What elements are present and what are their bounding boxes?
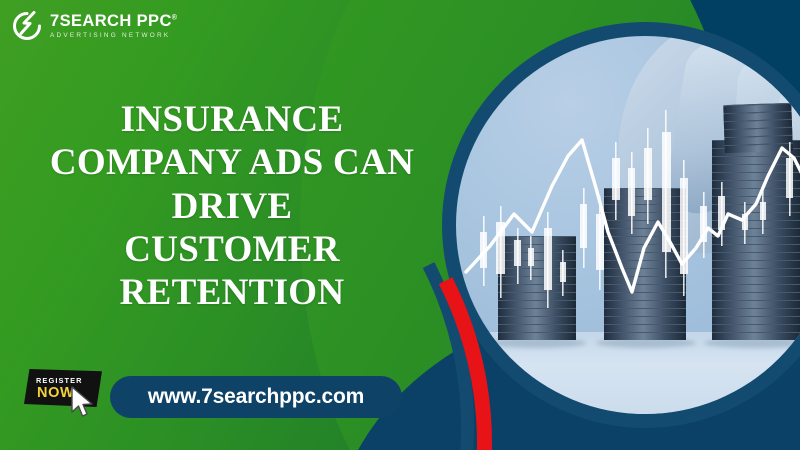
badge-label-register: REGISTER <box>36 376 83 385</box>
brand-name-text: 7SEARCH PPC <box>50 12 172 30</box>
registered-mark: ® <box>172 14 178 21</box>
headline: INSURANCE COMPANY ADS CAN DRIVE CUSTOMER… <box>22 98 442 314</box>
refresh-swoosh-icon <box>12 11 42 41</box>
headline-line-2: COMPANY ADS CAN <box>22 141 442 184</box>
headline-line-5: RETENTION <box>22 271 442 314</box>
headline-line-3: DRIVE <box>22 185 442 228</box>
register-now-badge[interactable]: REGISTER NOW <box>24 369 112 417</box>
brand-logo[interactable]: 7SEARCH PPC® ADVERTISING NETWORK <box>12 11 177 41</box>
promo-banner: 7SEARCH PPC® ADVERTISING NETWORK INSURAN… <box>0 0 800 450</box>
brand-tagline: ADVERTISING NETWORK <box>50 33 177 39</box>
headline-line-1: INSURANCE <box>22 98 442 141</box>
website-url-text: www.7searchppc.com <box>148 385 364 409</box>
mouse-pointer-icon <box>68 385 98 419</box>
brand-logo-text: 7SEARCH PPC® ADVERTISING NETWORK <box>50 13 177 40</box>
website-url-button[interactable]: www.7searchppc.com <box>110 376 402 418</box>
brand-name: 7SEARCH PPC® <box>50 13 177 30</box>
headline-line-4: CUSTOMER <box>22 228 442 271</box>
